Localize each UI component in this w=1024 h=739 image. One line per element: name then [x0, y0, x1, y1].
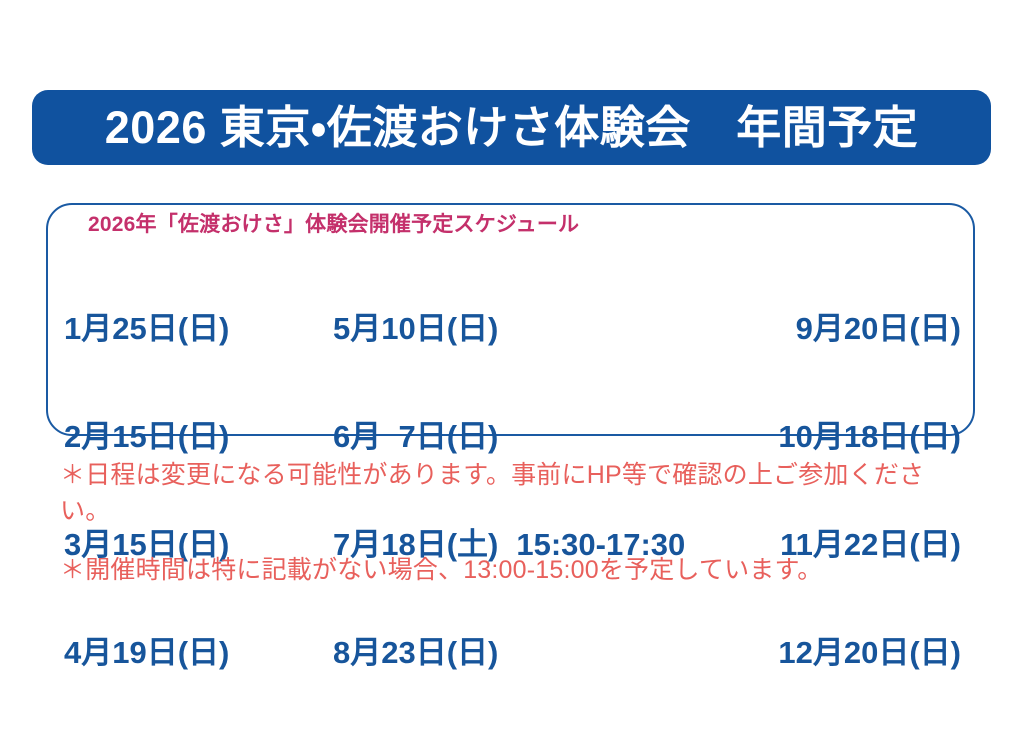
date-row: 9月20日(日): [778, 305, 961, 351]
date-row: 2月15日(日): [64, 413, 229, 459]
date-grid: 1月25日(日) 2月15日(日) 3月15日(日) 4月19日(日) 5月10…: [48, 243, 973, 433]
footnote-default-time: ＊開催時間は特に記載がない場合、13:00-15:00を予定しています。: [60, 553, 970, 589]
date-label: 8月23日(日): [333, 637, 498, 668]
poster-root: 2026 東京・佐渡おけさ体験会 年間予定 2026年「佐渡おけさ」体験会開催予…: [0, 0, 1024, 692]
date-row: 8月23日(日): [333, 629, 685, 675]
footnotes: ＊日程は変更になる可能性があります。事前にHP等で確認の上ご参加ください。 ＊開…: [60, 458, 970, 589]
date-label: 6月 7日(日): [333, 421, 498, 452]
footnote-schedule-change: ＊日程は変更になる可能性があります。事前にHP等で確認の上ご参加ください。: [60, 458, 928, 529]
date-row: 10月18日(日): [778, 413, 961, 459]
title-banner: 2026 東京・佐渡おけさ体験会 年間予定: [32, 90, 991, 165]
date-row: 12月20日(日): [778, 629, 961, 675]
date-label: 5月10日(日): [333, 313, 498, 344]
date-row: 5月10日(日): [333, 305, 685, 351]
schedule-box: 2026年「佐渡おけさ」体験会開催予定スケジュール 1月25日(日) 2月15日…: [46, 203, 975, 436]
date-row: 1月25日(日): [64, 305, 229, 351]
date-label: 2月15日(日): [64, 421, 229, 452]
date-label: 9月20日(日): [796, 313, 961, 344]
date-label: 12月20日(日): [778, 637, 961, 668]
date-label: 4月19日(日): [64, 637, 229, 668]
date-label: 1月25日(日): [64, 313, 229, 344]
schedule-subheader: 2026年「佐渡おけさ」体験会開催予定スケジュール: [88, 208, 579, 238]
date-label: 10月18日(日): [778, 421, 961, 452]
date-row: 6月 7日(日): [333, 413, 685, 459]
page-title: 2026 東京・佐渡おけさ体験会 年間予定: [105, 105, 918, 150]
date-row: 4月19日(日): [64, 629, 229, 675]
